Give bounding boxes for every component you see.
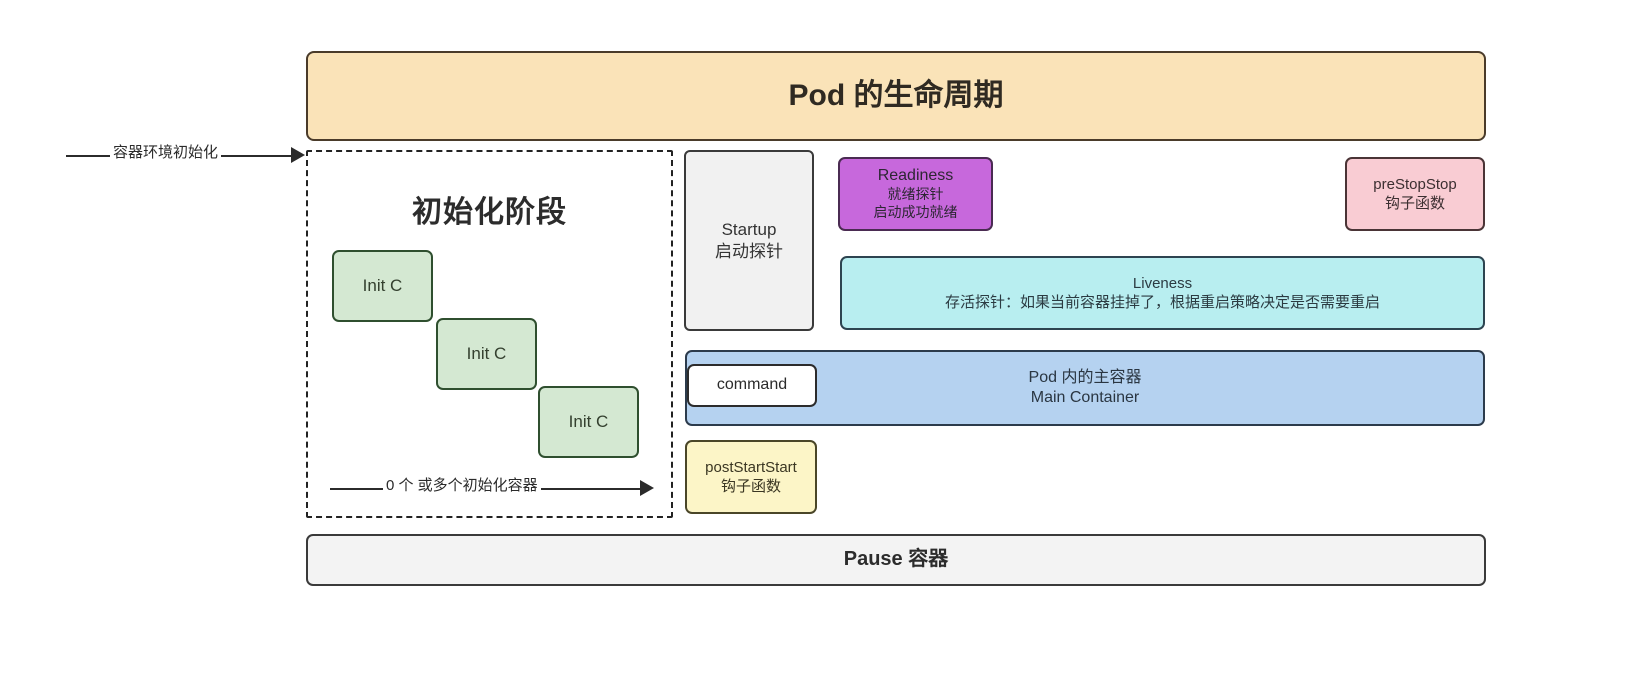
pause-container-label: Pause 容器 xyxy=(844,547,948,573)
init-container-label: Init C xyxy=(363,275,403,297)
poststart-hook-cn: 钩子函数 xyxy=(721,477,781,496)
startup-probe-name: Startup xyxy=(722,219,777,241)
poststart-hook-box: postStartStart 钩子函数 xyxy=(685,440,817,514)
main-container-cn: Pod 内的主容器 xyxy=(1029,368,1142,388)
init-container-box: Init C xyxy=(436,318,537,390)
liveness-probe-desc: 存活探针：如果当前容器挂掉了，根据重启策略决定是否需要重启 xyxy=(945,293,1380,312)
diagram-title-banner: Pod 的生命周期 xyxy=(306,51,1486,141)
readiness-probe-box: Readiness 就绪探针 启动成功就绪 xyxy=(838,157,993,231)
env-init-arrow-label: 容器环境初始化 xyxy=(110,145,221,160)
prestop-hook-name: preStopStop xyxy=(1373,175,1456,194)
readiness-probe-cn: 就绪探针 xyxy=(888,186,944,204)
readiness-probe-desc: 启动成功就绪 xyxy=(874,204,958,222)
page-title: Pod 的生命周期 xyxy=(789,77,1004,115)
startup-probe-cn: 启动探针 xyxy=(715,241,783,263)
init-container-box: Init C xyxy=(332,250,433,322)
prestop-hook-box: preStopStop 钩子函数 xyxy=(1345,157,1485,231)
init-container-label: Init C xyxy=(467,343,507,365)
liveness-probe-name: Liveness xyxy=(1133,274,1192,293)
pause-container-box: Pause 容器 xyxy=(306,534,1486,586)
main-container-en: Main Container xyxy=(1031,388,1140,408)
init-container-count-arrow-label: 0 个 或多个初始化容器 xyxy=(383,478,541,493)
init-container-box: Init C xyxy=(538,386,639,458)
readiness-probe-name: Readiness xyxy=(878,166,954,186)
prestop-hook-cn: 钩子函数 xyxy=(1385,194,1445,213)
command-label: command xyxy=(717,375,787,395)
init-phase-title: 初始化阶段 xyxy=(308,187,671,231)
pod-lifecycle-diagram: Pod 的生命周期 容器环境初始化 初始化阶段 Init C Init C In… xyxy=(0,0,1634,689)
liveness-probe-box: Liveness 存活探针：如果当前容器挂掉了，根据重启策略决定是否需要重启 xyxy=(840,256,1485,330)
command-box: command xyxy=(687,364,817,407)
startup-probe-box: Startup 启动探针 xyxy=(684,150,814,331)
env-init-arrow-head-icon xyxy=(291,147,305,163)
poststart-hook-name: postStartStart xyxy=(705,458,797,477)
init-container-count-arrow-head-icon xyxy=(640,480,654,496)
init-container-label: Init C xyxy=(569,411,609,433)
